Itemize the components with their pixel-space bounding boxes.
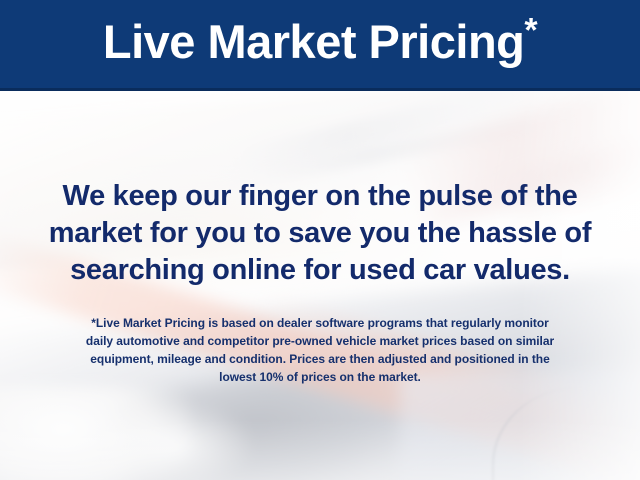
headline-line-2: market for you to save you the hassle of — [0, 215, 640, 252]
disclaimer-line-2: daily automotive and competitor pre-owne… — [0, 332, 640, 350]
disclaimer-line-1: *Live Market Pricing is based on dealer … — [0, 314, 640, 332]
photo-edge-veil-bottom — [0, 420, 640, 480]
live-market-pricing-banner: Live Market Pricing* We keep our finger … — [0, 0, 640, 480]
header-band-rule — [0, 88, 640, 91]
page-title-text: Live Market Pricing — [103, 15, 525, 68]
disclaimer: *Live Market Pricing is based on dealer … — [0, 314, 640, 386]
disclaimer-line-4: lowest 10% of prices on the market. — [0, 368, 640, 386]
disclaimer-line-3: equipment, mileage and condition. Prices… — [0, 350, 640, 368]
headline: We keep our finger on the pulse of the m… — [0, 178, 640, 289]
headline-line-1: We keep our finger on the pulse of the — [0, 178, 640, 215]
page-title-asterisk: * — [524, 11, 537, 49]
headline-line-3: searching online for used car values. — [0, 252, 640, 289]
page-title: Live Market Pricing* — [0, 11, 640, 73]
